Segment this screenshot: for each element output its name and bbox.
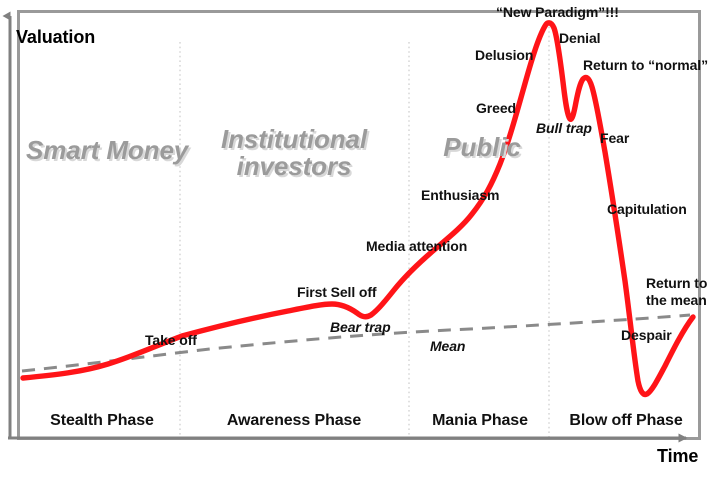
- actor-label-institutional-line2: investors: [188, 153, 400, 180]
- phase-label-awareness: Awareness Phase: [204, 412, 384, 430]
- actor-label-institutional-line1: Institutional: [188, 126, 400, 153]
- actor-label-smart-money: Smart Money: [26, 137, 174, 164]
- y-axis-title: Valuation: [16, 27, 95, 47]
- annotation-mean: Mean: [430, 339, 465, 355]
- annotation-new-paradigm: “New Paradigm”!!!: [496, 5, 619, 21]
- x-axis-title: Time: [657, 446, 698, 466]
- annotation-return-to-the-mean-line2: the mean: [646, 292, 707, 309]
- annotation-return-to-normal: Return to “normal”: [583, 58, 708, 74]
- annotation-greed: Greed: [476, 101, 516, 117]
- annotation-despair: Despair: [621, 328, 672, 344]
- actor-label-public: Public: [430, 134, 534, 161]
- annotation-bull-trap: Bull trap: [536, 121, 592, 137]
- annotation-media-attention: Media attention: [366, 239, 467, 255]
- annotation-fear: Fear: [600, 131, 629, 147]
- annotation-delusion: Delusion: [475, 48, 533, 64]
- annotation-enthusiasm: Enthusiasm: [421, 188, 499, 204]
- phase-label-stealth: Stealth Phase: [32, 412, 172, 430]
- annotation-capitulation: Capitulation: [607, 202, 687, 218]
- bubble-phases-chart: Valuation Time Smart Money Institutional…: [0, 0, 720, 482]
- annotation-take-off: Take off: [145, 333, 197, 349]
- annotation-first-sell-off: First Sell off: [297, 285, 377, 301]
- annotation-bear-trap: Bear trap: [330, 320, 391, 336]
- annotation-return-to-the-mean: Return to the mean: [646, 275, 707, 308]
- actor-label-institutional-investors: Institutional investors: [188, 126, 400, 181]
- phase-label-blowoff: Blow off Phase: [556, 412, 696, 430]
- annotation-denial: Denial: [559, 31, 600, 47]
- plot-background: [20, 13, 698, 437]
- phase-label-mania: Mania Phase: [414, 412, 546, 430]
- annotation-return-to-the-mean-line1: Return to: [646, 275, 707, 292]
